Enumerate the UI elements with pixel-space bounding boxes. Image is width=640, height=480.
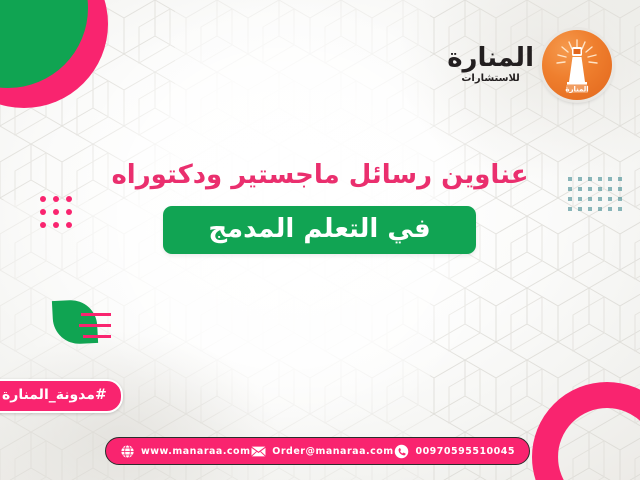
globe-icon (120, 444, 135, 459)
contact-email[interactable]: Order@manaraa.com (251, 444, 393, 459)
subject-badge: في التعلم المدمج (163, 206, 476, 254)
leaf-line-2 (79, 324, 111, 327)
corner-pink-ring (532, 382, 640, 480)
contact-phone[interactable]: 00970595510045 (394, 444, 515, 459)
contact-phone-label: 00970595510045 (415, 446, 515, 457)
page-title: عناوين رسائل ماجستير ودكتوراه (0, 160, 640, 190)
poster-canvas: المنارة للاستشارات (0, 0, 640, 480)
leaf-shape-icon (52, 299, 98, 345)
subject-badge-label: في التعلم المدمج (208, 216, 430, 245)
logo-wordmark-main: المنارة (447, 45, 534, 71)
lighthouse-icon: المنارة (542, 30, 612, 100)
logo-wordmark: المنارة للاستشارات (447, 45, 534, 86)
contact-bar: www.manaraa.com Order@manaraa.com 009705… (105, 437, 530, 465)
hashtag-label: #مدونة_المنارة (2, 388, 107, 404)
logo-wordmark-sub: للاستشارات (461, 74, 519, 84)
brand-logo[interactable]: المنارة للاستشارات (447, 30, 612, 100)
envelope-icon (251, 444, 266, 459)
leaf-ornament (53, 300, 111, 348)
svg-text:المنارة: المنارة (565, 86, 588, 94)
contact-email-label: Order@manaraa.com (272, 446, 393, 457)
contact-website[interactable]: www.manaraa.com (120, 444, 251, 459)
leaf-line-3 (83, 335, 111, 338)
hashtag-badge[interactable]: #مدونة_المنارة (0, 379, 123, 413)
whatsapp-phone-icon (394, 444, 409, 459)
leaf-line-1 (81, 313, 111, 316)
contact-website-label: www.manaraa.com (141, 446, 251, 457)
pink-dot-grid (40, 196, 79, 235)
